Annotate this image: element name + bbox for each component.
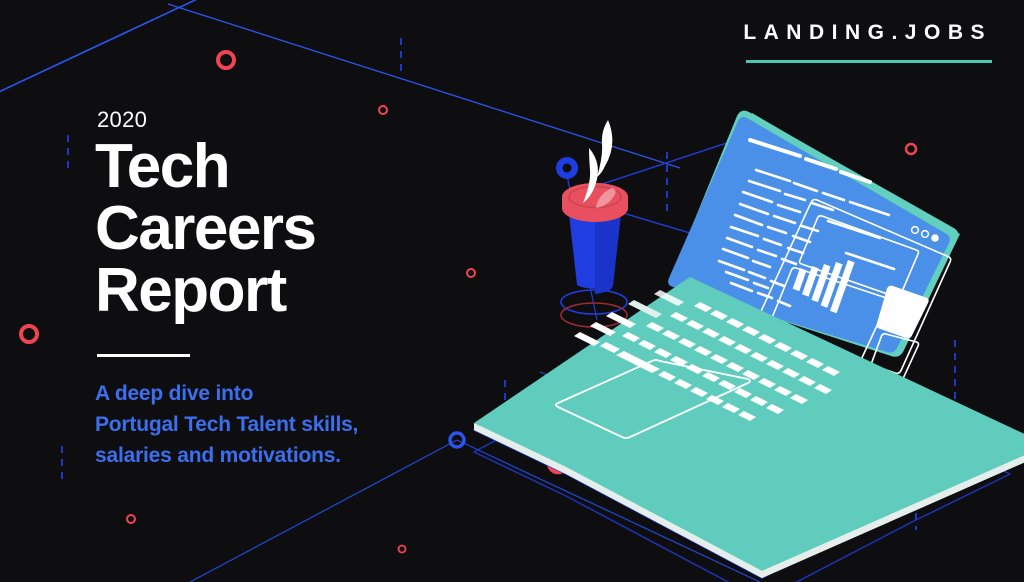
coffee-cup xyxy=(562,183,628,294)
brand-underline xyxy=(746,60,992,63)
poster-canvas: LANDING.JOBS 2020 Tech Careers Report A … xyxy=(0,0,1024,582)
title-line-2: Careers xyxy=(95,198,315,260)
title-line-1: Tech xyxy=(95,136,315,198)
page-subtitle: A deep dive into Portugal Tech Talent sk… xyxy=(95,378,358,471)
subtitle-line-1: A deep dive into xyxy=(95,378,358,409)
title-line-3: Report xyxy=(95,260,315,322)
page-title: Tech Careers Report xyxy=(95,136,315,322)
laptop-base xyxy=(474,277,1024,578)
brand-logo: LANDING.JOBS xyxy=(743,22,992,63)
subtitle-line-3: salaries and motivations. xyxy=(95,440,358,471)
title-divider xyxy=(97,354,190,357)
subtitle-line-2: Portugal Tech Talent skills, xyxy=(95,409,358,440)
steam-node-icon xyxy=(556,157,578,179)
brand-name: LANDING.JOBS xyxy=(743,22,992,43)
report-year: 2020 xyxy=(97,107,147,133)
